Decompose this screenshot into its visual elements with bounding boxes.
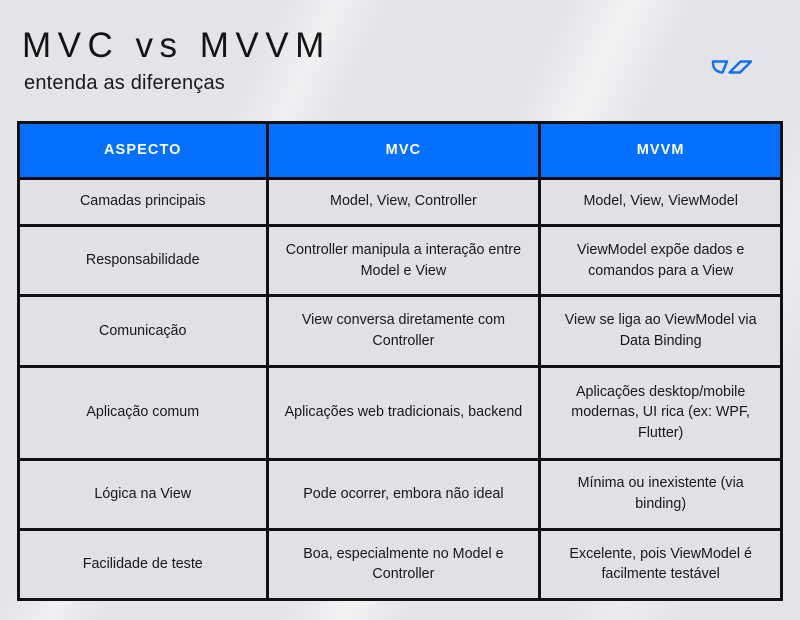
cell-mvvm: Excelente, pois ViewModel é facilmente t…	[540, 529, 780, 598]
cell-mvc: Boa, especialmente no Model e Controller	[267, 529, 540, 598]
comparison-table: ASPECTO MVC MVVM Camadas principais Mode…	[20, 124, 780, 598]
wing-bird-logo	[710, 50, 754, 84]
cell-mvvm: Model, View, ViewModel	[540, 178, 780, 226]
cell-aspect: Aplicação comum	[20, 366, 267, 459]
comparison-table-container: ASPECTO MVC MVVM Camadas principais Mode…	[17, 121, 783, 601]
cell-aspect: Facilidade de teste	[20, 529, 267, 598]
table-header-row: ASPECTO MVC MVVM	[20, 124, 780, 178]
page-title: MVC vs MVVM	[22, 26, 662, 65]
cell-aspect: Camadas principais	[20, 178, 267, 226]
cell-mvc: Model, View, Controller	[267, 178, 540, 226]
table-row: Comunicação View conversa diretamente co…	[20, 296, 780, 366]
cell-mvvm: Mínima ou inexistente (via binding)	[540, 459, 780, 529]
cell-mvc: Controller manipula a interação entre Mo…	[267, 226, 540, 296]
cell-aspect: Lógica na View	[20, 459, 267, 529]
table-row: Facilidade de teste Boa, especialmente n…	[20, 529, 780, 598]
table-row: Camadas principais Model, View, Controll…	[20, 178, 780, 226]
cell-mvvm: ViewModel expõe dados e comandos para a …	[540, 226, 780, 296]
table-row: Responsabilidade Controller manipula a i…	[20, 226, 780, 296]
cell-mvc: Aplicações web tradicionais, backend	[267, 366, 540, 459]
cell-mvc: View conversa diretamente com Controller	[267, 296, 540, 366]
table-row: Lógica na View Pode ocorrer, embora não …	[20, 459, 780, 529]
cell-mvc: Pode ocorrer, embora não ideal	[267, 459, 540, 529]
slide-canvas: MVC vs MVVM entenda as diferenças ASPECT…	[0, 0, 800, 620]
cell-mvvm: Aplicações desktop/mobile modernas, UI r…	[540, 366, 780, 459]
column-header-mvc: MVC	[267, 124, 540, 178]
cell-mvvm: View se liga ao ViewModel via Data Bindi…	[540, 296, 780, 366]
header-block: MVC vs MVVM entenda as diferenças	[22, 26, 662, 95]
column-header-aspecto: ASPECTO	[20, 124, 267, 178]
cell-aspect: Responsabilidade	[20, 226, 267, 296]
cell-aspect: Comunicação	[20, 296, 267, 366]
table-row: Aplicação comum Aplicações web tradicion…	[20, 366, 780, 459]
page-subtitle: entenda as diferenças	[24, 71, 662, 95]
column-header-mvvm: MVVM	[540, 124, 780, 178]
